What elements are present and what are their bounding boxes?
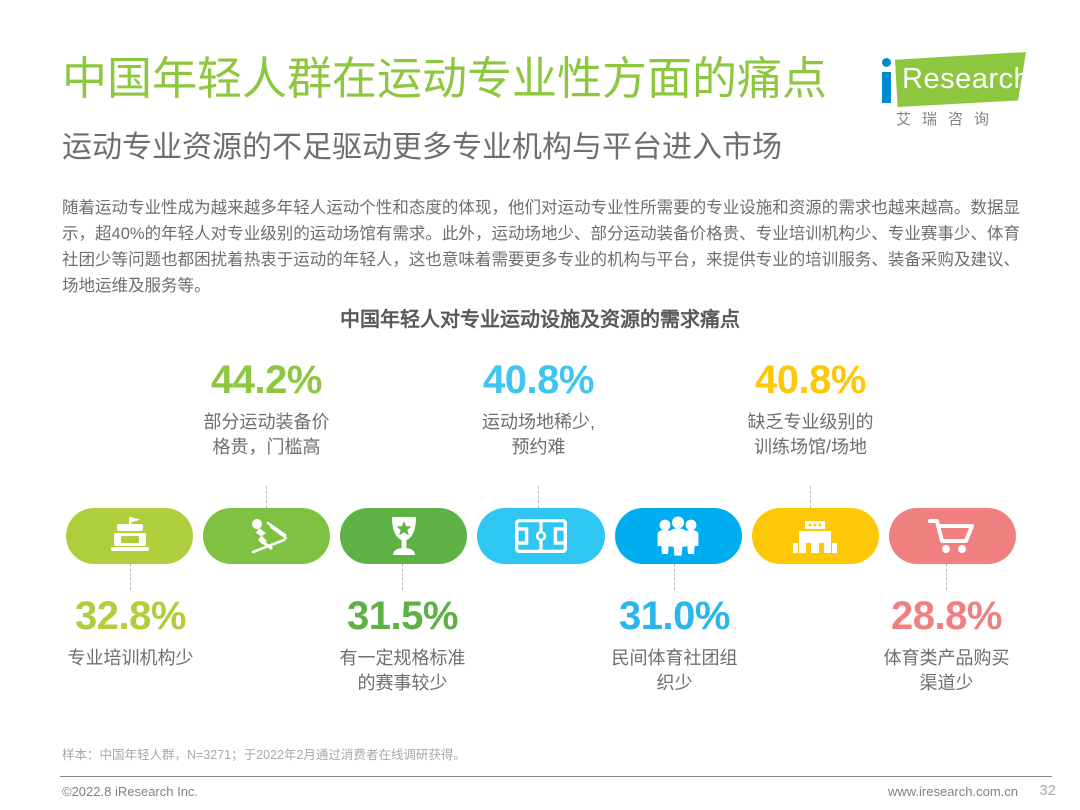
stat-label: 部分运动装备价 格贵，门槛高 [169, 410, 364, 460]
trophy-icon [384, 515, 424, 557]
stat-label: 有一定规格标准 的赛事较少 [305, 646, 500, 696]
body-paragraph: 随着运动专业性成为越来越多年轻人运动个性和态度的体现，他们对运动专业性所需要的专… [62, 195, 1020, 299]
logo-wordmark: Research [902, 62, 1030, 96]
page-title: 中国年轻人群在运动专业性方面的痛点 [62, 50, 827, 108]
stat-group-top-2: 40.8% 运动场地稀少, 预约难 [441, 356, 636, 460]
connector-line-top-3 [810, 486, 811, 508]
stat-value: 44.2% [169, 356, 364, 404]
shopping-cart-icon [928, 517, 976, 555]
stadium-building-icon [791, 519, 839, 553]
logo-i-stem-icon [882, 72, 891, 103]
pill-people-group[interactable] [615, 508, 742, 564]
stat-label: 体育类产品购买 渠道少 [849, 646, 1044, 696]
slide-root: 中国年轻人群在运动专业性方面的痛点 运动专业资源的不足驱动更多专业机构与平台进入… [0, 0, 1080, 810]
sports-field-icon [515, 519, 567, 553]
stat-label-line1: 缺乏专业级别的 [748, 412, 874, 432]
page-subtitle: 运动专业资源的不足驱动更多专业机构与平台进入市场 [62, 128, 782, 168]
stat-group-bottom-2: 31.5% 有一定规格标准 的赛事较少 [305, 592, 500, 696]
iresearch-logo: Research 艾瑞咨询 [878, 50, 1028, 134]
icon-pill-row [66, 508, 1016, 564]
stat-value: 28.8% [849, 592, 1044, 640]
stat-label-line2: 格贵，门槛高 [213, 437, 321, 457]
stat-group-bottom-3: 31.0% 民间体育社团组 织少 [577, 592, 772, 696]
stat-label-line1: 部分运动装备价 [204, 412, 330, 432]
stat-group-top-1: 44.2% 部分运动装备价 格贵，门槛高 [169, 356, 364, 460]
connector-line-bottom-3 [674, 564, 675, 590]
training-board-icon [108, 516, 152, 556]
stat-label-line2: 训练场馆/场地 [754, 437, 867, 457]
stat-label-line2: 的赛事较少 [358, 673, 448, 693]
footer-website: www.iresearch.com.cn [888, 784, 1018, 799]
stat-value: 40.8% [441, 356, 636, 404]
infographic-chart: 44.2% 部分运动装备价 格贵，门槛高 40.8% 运动场地稀少, 预约难 4… [0, 340, 1080, 740]
stat-label: 运动场地稀少, 预约难 [441, 410, 636, 460]
logo-i-dot-icon [882, 58, 891, 67]
connector-line-bottom-4 [946, 564, 947, 590]
stat-label-line2: 织少 [657, 673, 693, 693]
stat-label-line1: 民间体育社团组 [612, 648, 738, 668]
stat-value: 31.0% [577, 592, 772, 640]
connector-line-bottom-1 [130, 564, 131, 590]
stat-value: 40.8% [713, 356, 908, 404]
stat-group-bottom-4: 28.8% 体育类产品购买 渠道少 [849, 592, 1044, 696]
stat-value: 31.5% [305, 592, 500, 640]
page-number: 32 [1039, 782, 1056, 799]
stat-label: 专业培训机构少 [33, 646, 228, 671]
sample-footnote: 样本：中国年轻人群，N=3271；于2022年2月通过消费者在线调研获得。 [62, 744, 466, 763]
pill-shopping-cart[interactable] [889, 508, 1016, 564]
stat-label: 民间体育社团组 织少 [577, 646, 772, 696]
stat-label-line1: 运动场地稀少, [482, 412, 595, 432]
connector-line-top-2 [538, 486, 539, 508]
connector-line-bottom-2 [402, 564, 403, 590]
people-group-icon [655, 516, 701, 556]
stat-group-bottom-1: 32.8% 专业培训机构少 [33, 592, 228, 671]
stat-label-line1: 专业培训机构少 [68, 648, 194, 668]
footer-copyright: ©2022.8 iResearch Inc. [62, 784, 198, 799]
stat-value: 32.8% [33, 592, 228, 640]
pill-skier[interactable] [203, 508, 330, 564]
pill-sports-field[interactable] [477, 508, 604, 564]
footer-divider [60, 776, 1052, 777]
chart-title: 中国年轻人对专业运动设施及资源的需求痛点 [0, 303, 1080, 332]
stat-label-line2: 渠道少 [920, 673, 974, 693]
stat-label: 缺乏专业级别的 训练场馆/场地 [713, 410, 908, 460]
stat-group-top-3: 40.8% 缺乏专业级别的 训练场馆/场地 [713, 356, 908, 460]
logo-chinese-name: 艾瑞咨询 [896, 108, 1000, 129]
stat-label-line2: 预约难 [512, 437, 566, 457]
skier-icon [244, 516, 290, 556]
connector-line-top-1 [266, 486, 267, 508]
stat-label-line1: 有一定规格标准 [340, 648, 466, 668]
pill-trophy[interactable] [340, 508, 467, 564]
pill-stadium-building[interactable] [752, 508, 879, 564]
pill-training-board[interactable] [66, 508, 193, 564]
stat-label-line1: 体育类产品购买 [884, 648, 1010, 668]
